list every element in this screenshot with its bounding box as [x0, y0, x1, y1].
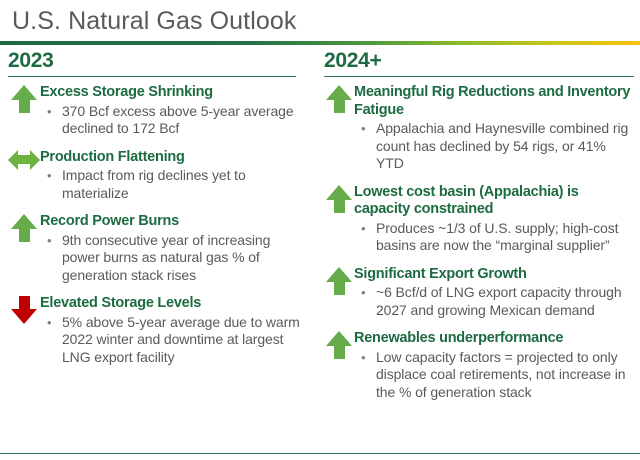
list-item: Production Flattening •Impact from rig d… [8, 149, 304, 203]
column-heading-rule [8, 76, 296, 77]
item-body: Record Power Burns •9th consecutive year… [40, 213, 304, 284]
bullet-dot-icon: • [361, 284, 365, 302]
column-heading-2023: 2023 [8, 48, 304, 76]
arrow-cell [8, 149, 40, 170]
bullet-dot-icon: • [47, 314, 51, 332]
arrow-left-right-icon [8, 150, 40, 170]
bullet-item: •Appalachia and Haynesville combined rig… [354, 120, 636, 173]
item-title: Excess Storage Shrinking [40, 84, 304, 102]
bottom-rule [0, 453, 640, 455]
item-body: Significant Export Growth •~6 Bcf/d of L… [354, 266, 636, 320]
arrow-down-icon [11, 296, 37, 324]
two-column-body: 2023 Excess Storage Shrinking •370 Bcf e… [0, 48, 640, 412]
arrow-up-icon [326, 85, 352, 113]
bullet-dot-icon: • [47, 232, 51, 250]
list-item: Excess Storage Shrinking •370 Bcf excess… [8, 84, 304, 138]
arrow-cell [324, 266, 354, 295]
arrow-up-icon [326, 185, 352, 213]
item-title: Meaningful Rig Reductions and Inventory … [354, 84, 636, 119]
item-title: Lowest cost basin (Appalachia) is capaci… [354, 184, 636, 219]
arrow-cell [324, 184, 354, 213]
list-item: Lowest cost basin (Appalachia) is capaci… [324, 184, 636, 255]
bullet-item: •Low capacity factors = projected to onl… [354, 349, 636, 402]
bullet-item: •Produces ~1/3 of U.S. supply; high-cost… [354, 220, 636, 255]
bullet-list: •5% above 5-year average due to warm 202… [40, 314, 304, 367]
column-heading-rule [324, 76, 634, 77]
column-2024plus: 2024+ Meaningful Rig Reductions and Inve… [310, 48, 640, 412]
column-heading-2024plus: 2024+ [324, 48, 636, 76]
list-item: Meaningful Rig Reductions and Inventory … [324, 84, 636, 173]
bullet-dot-icon: • [47, 103, 51, 121]
bullet-list: •~6 Bcf/d of LNG export capacity through… [354, 284, 636, 319]
bullet-dot-icon: • [361, 220, 365, 238]
list-item: Significant Export Growth •~6 Bcf/d of L… [324, 266, 636, 320]
item-body: Excess Storage Shrinking •370 Bcf excess… [40, 84, 304, 138]
item-title: Renewables underperformance [354, 330, 636, 348]
arrow-cell [8, 84, 40, 113]
bullet-text: Low capacity factors = projected to only… [376, 349, 625, 400]
arrow-up-icon [326, 267, 352, 295]
bullet-list: •Appalachia and Haynesville combined rig… [354, 120, 636, 173]
column-2023: 2023 Excess Storage Shrinking •370 Bcf e… [0, 48, 310, 412]
item-body: Lowest cost basin (Appalachia) is capaci… [354, 184, 636, 255]
item-title: Elevated Storage Levels [40, 295, 304, 313]
list-item: Elevated Storage Levels •5% above 5-year… [8, 295, 304, 366]
bullet-dot-icon: • [361, 349, 365, 367]
bullet-text: Appalachia and Haynesville combined rig … [376, 120, 628, 171]
bullet-list: •9th consecutive year of increasing powe… [40, 232, 304, 285]
list-item: Renewables underperformance •Low capacit… [324, 330, 636, 401]
bullet-text: Impact from rig declines yet to material… [62, 167, 246, 201]
bullet-text: 370 Bcf excess above 5-year average decl… [62, 103, 294, 137]
arrow-up-icon [326, 331, 352, 359]
page-title: U.S. Natural Gas Outlook [0, 0, 640, 38]
bullet-item: •~6 Bcf/d of LNG export capacity through… [354, 284, 636, 319]
bullet-text: Produces ~1/3 of U.S. supply; high-cost … [376, 220, 618, 254]
bullet-list: •Impact from rig declines yet to materia… [40, 167, 304, 202]
item-body: Renewables underperformance •Low capacit… [354, 330, 636, 401]
bullet-dot-icon: • [47, 167, 51, 185]
arrow-cell [8, 213, 40, 242]
bullet-item: •5% above 5-year average due to warm 202… [40, 314, 304, 367]
arrow-up-icon [11, 85, 37, 113]
bullet-item: •370 Bcf excess above 5-year average dec… [40, 103, 304, 138]
item-body: Meaningful Rig Reductions and Inventory … [354, 84, 636, 173]
bullet-text: 9th consecutive year of increasing power… [62, 232, 270, 283]
item-title: Production Flattening [40, 149, 304, 167]
item-body: Production Flattening •Impact from rig d… [40, 149, 304, 203]
bullet-text: 5% above 5-year average due to warm 2022… [62, 314, 300, 365]
arrow-cell [8, 295, 40, 324]
item-title: Record Power Burns [40, 213, 304, 231]
bullet-dot-icon: • [361, 120, 365, 138]
arrow-cell [324, 84, 354, 113]
item-body: Elevated Storage Levels •5% above 5-year… [40, 295, 304, 366]
bullet-item: •Impact from rig declines yet to materia… [40, 167, 304, 202]
bullet-list: •370 Bcf excess above 5-year average dec… [40, 103, 304, 138]
item-title: Significant Export Growth [354, 266, 636, 284]
bullet-list: •Low capacity factors = projected to onl… [354, 349, 636, 402]
bullet-text: ~6 Bcf/d of LNG export capacity through … [376, 284, 622, 318]
bullet-list: •Produces ~1/3 of U.S. supply; high-cost… [354, 220, 636, 255]
arrow-cell [324, 330, 354, 359]
title-gradient-rule [0, 41, 640, 45]
arrow-up-icon [11, 214, 37, 242]
list-item: Record Power Burns •9th consecutive year… [8, 213, 304, 284]
bullet-item: •9th consecutive year of increasing powe… [40, 232, 304, 285]
